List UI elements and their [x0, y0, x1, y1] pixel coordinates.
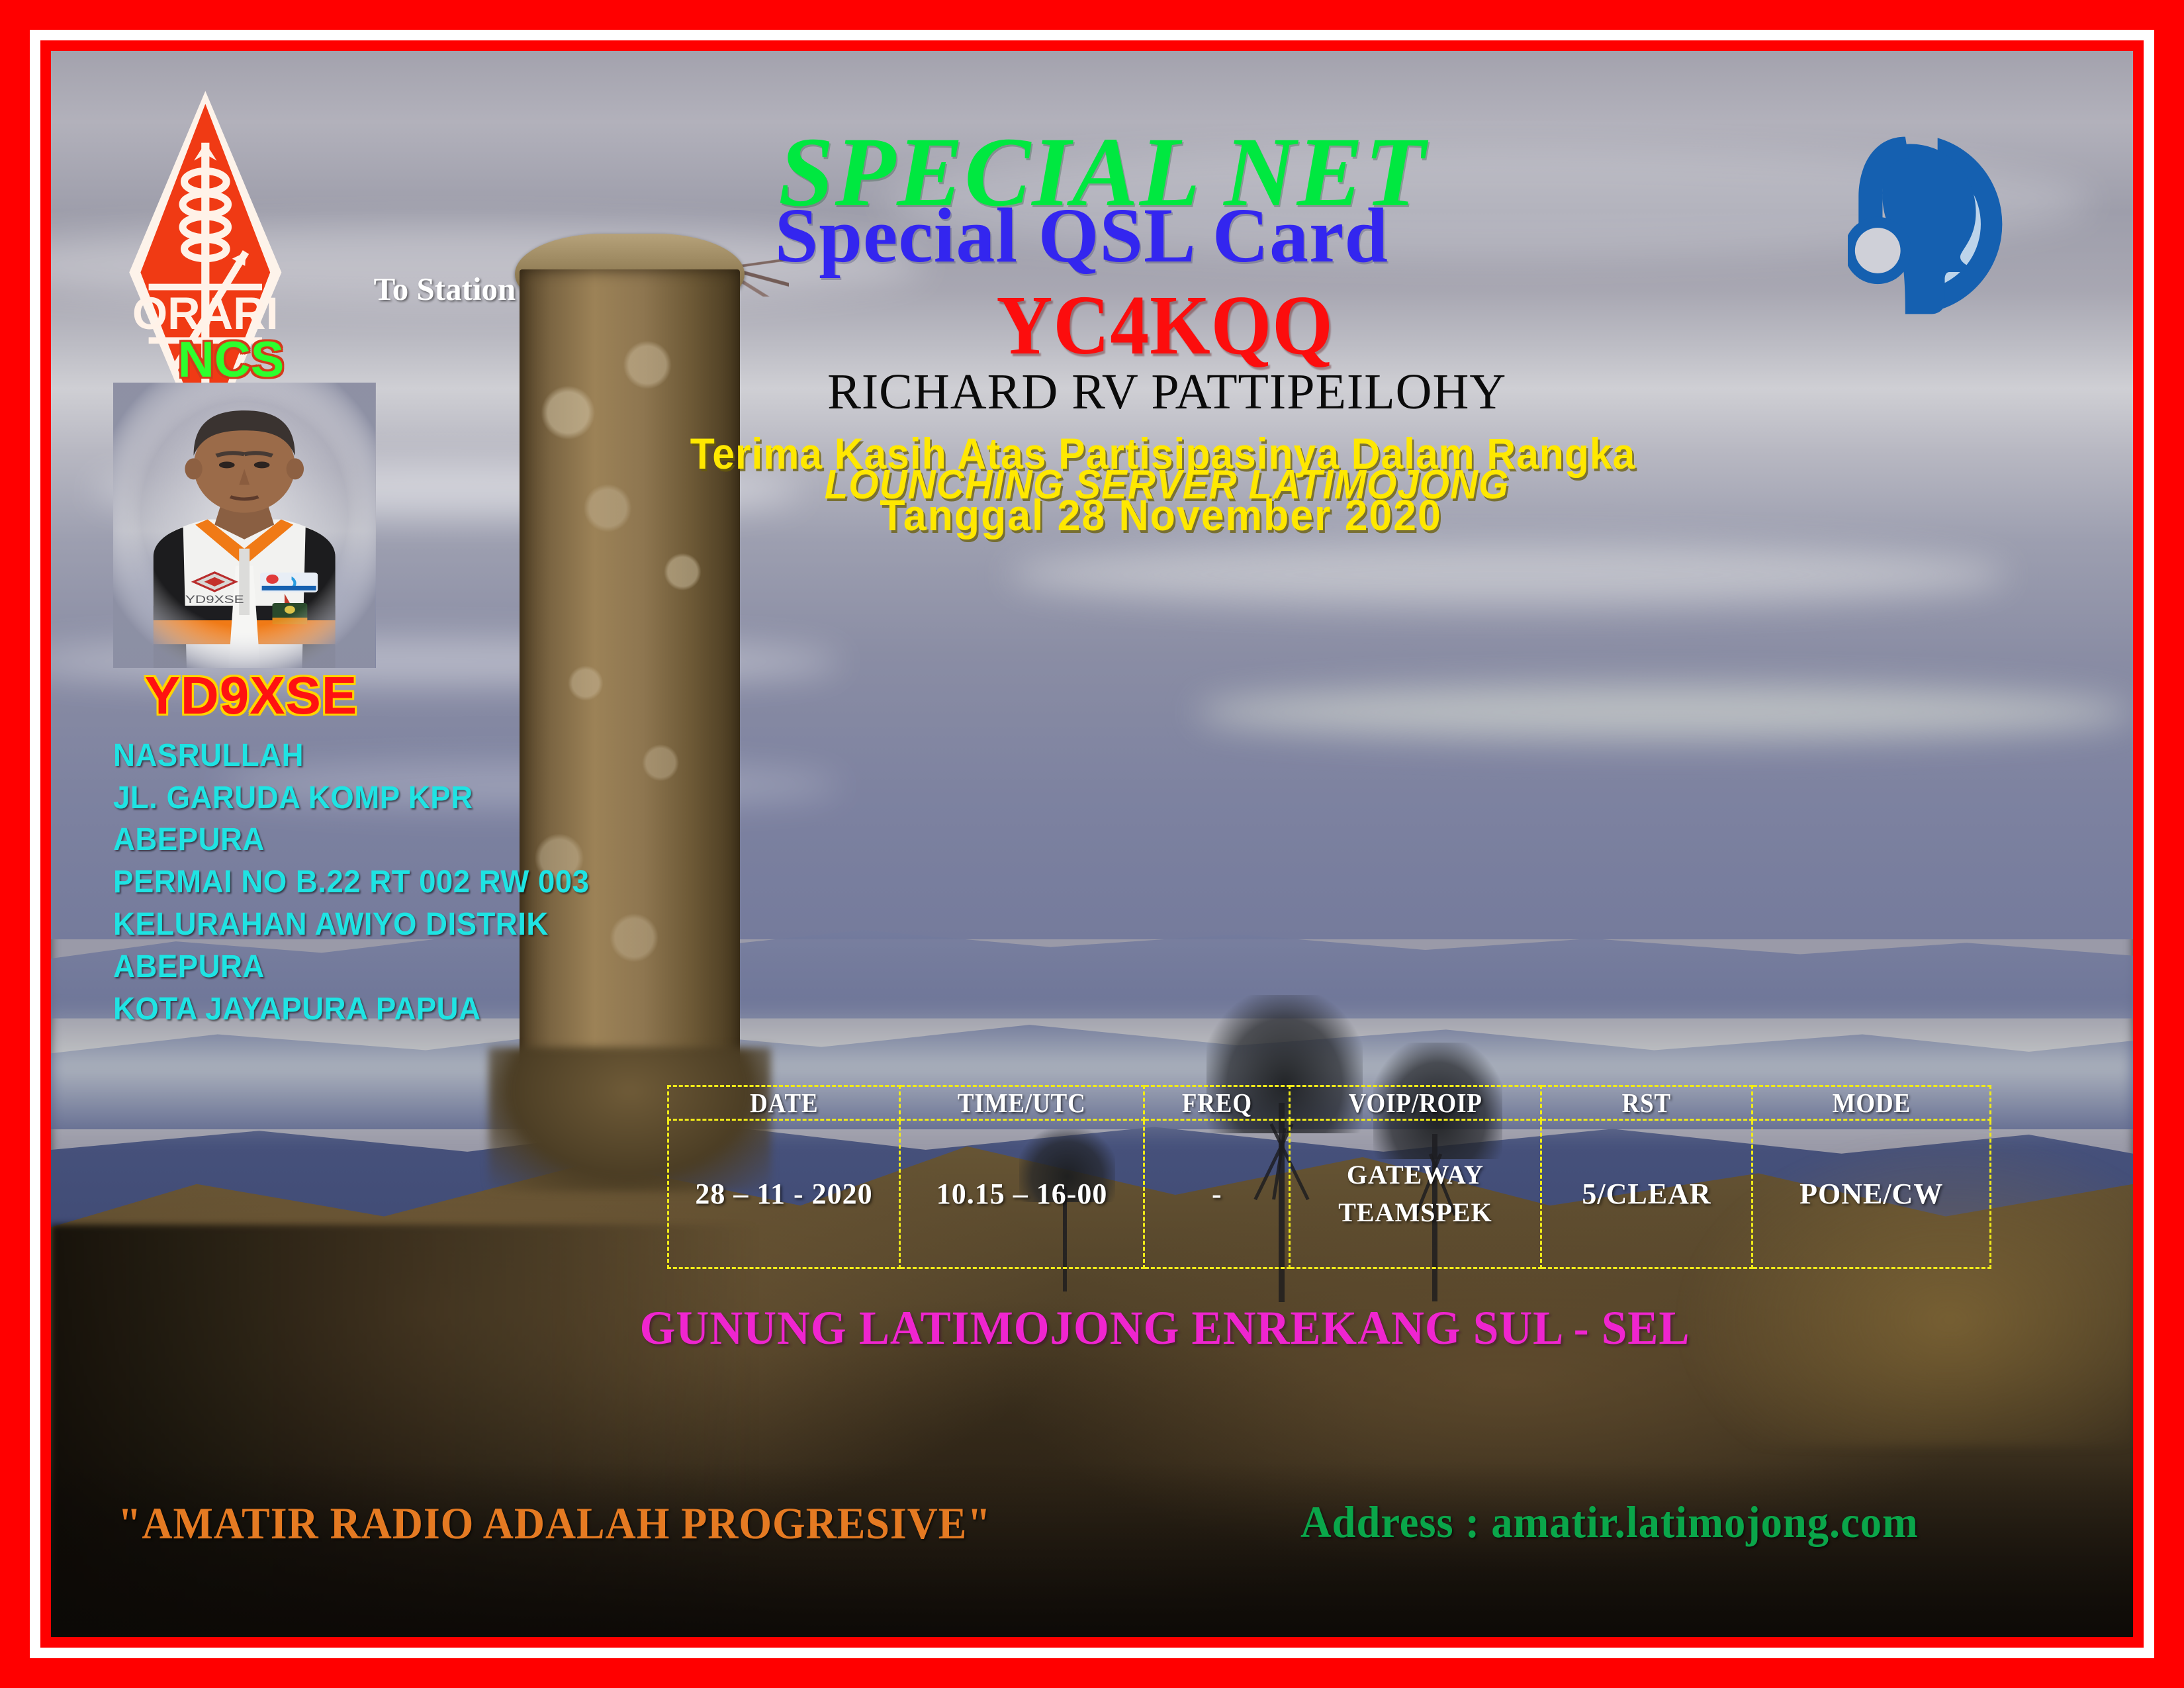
cell-rst: 5/CLEAR: [1541, 1120, 1752, 1268]
card-photo-background: ORARI SPECIAL NET Special QSL Card: [51, 51, 2133, 1637]
column-header-rst: RST: [1551, 1086, 1742, 1120]
ncs-label: NCS: [178, 335, 284, 385]
to-station-label: To Station: [374, 273, 516, 305]
card-inner-red-border: ORARI SPECIAL NET Special QSL Card: [40, 40, 2144, 1648]
cell-voip-roip-line2: TEAMSPEK: [1338, 1197, 1492, 1227]
address-line: JL. GARUDA KOMP KPR: [113, 777, 589, 820]
address-block: NASRULLAH JL. GARUDA KOMP KPR ABEPURA PE…: [113, 735, 614, 1031]
cell-voip-roip: GATEWAY TEAMSPEK: [1290, 1120, 1541, 1268]
cell-mode: PONE/CW: [1752, 1120, 1991, 1268]
address-line: NASRULLAH: [113, 735, 589, 777]
table-row: 28 – 11 - 2020 10.15 – 16-00 - GATEWAY T…: [668, 1120, 1991, 1268]
footer-web-address: Address : amatir.latimojong.com: [1300, 1499, 1919, 1544]
address-line: ABEPURA: [113, 946, 589, 988]
cloud-streak: [1196, 685, 2133, 739]
column-header-mode: MODE: [1764, 1086, 1979, 1120]
cell-time-utc: 10.15 – 16-00: [899, 1120, 1144, 1268]
location-line: GUNUNG LATIMOJONG ENREKANG SUL - SEL: [640, 1304, 1690, 1352]
operator-photo: YD9XSE: [113, 383, 375, 668]
card-white-border: ORARI SPECIAL NET Special QSL Card: [30, 30, 2154, 1658]
address-line: KELURAHAN AWIYO DISTRIK: [113, 904, 589, 946]
footer-slogan: "AMATIR RADIO ADALAH PROGRESIVE": [118, 1501, 991, 1546]
column-header-voip-roip: VOIP/ROIP: [1302, 1086, 1529, 1120]
address-line: ABEPURA: [113, 819, 589, 861]
station-callsign: YC4KQQ: [996, 283, 1333, 367]
column-header-time-utc: TIME/UTC: [912, 1086, 1132, 1120]
column-header-freq: FREQ: [1152, 1086, 1283, 1120]
cell-freq: -: [1144, 1120, 1290, 1268]
cloud-streak: [1009, 543, 2008, 606]
cell-date: 28 – 11 - 2020: [668, 1120, 900, 1268]
qsl-card: ORARI SPECIAL NET Special QSL Card: [0, 0, 2184, 1688]
event-date-line: Tanggal 28 November 2020: [880, 493, 1441, 537]
foreground-shadow: [51, 1462, 2133, 1637]
address-line: KOTA JAYAPURA PAPUA: [113, 988, 589, 1031]
qso-log-table: DATE TIME/UTC FREQ VOIP/ROIP RST MODE 28…: [667, 1085, 1991, 1269]
ncs-callsign: YD9XSE: [145, 669, 358, 722]
headphone-operator-logo: [1848, 89, 2087, 359]
operator-name: RICHARD RV PATTIPEILOHY: [827, 367, 1506, 417]
page-subtitle-special-qsl-card: Special QSL Card: [775, 197, 1388, 275]
table-header-row: DATE TIME/UTC FREQ VOIP/ROIP RST MODE: [668, 1086, 1991, 1120]
cell-voip-roip-line1: GATEWAY: [1347, 1160, 1484, 1190]
column-header-date: DATE: [680, 1086, 888, 1120]
address-line: PERMAI NO B.22 RT 002 RW 003: [113, 861, 589, 904]
